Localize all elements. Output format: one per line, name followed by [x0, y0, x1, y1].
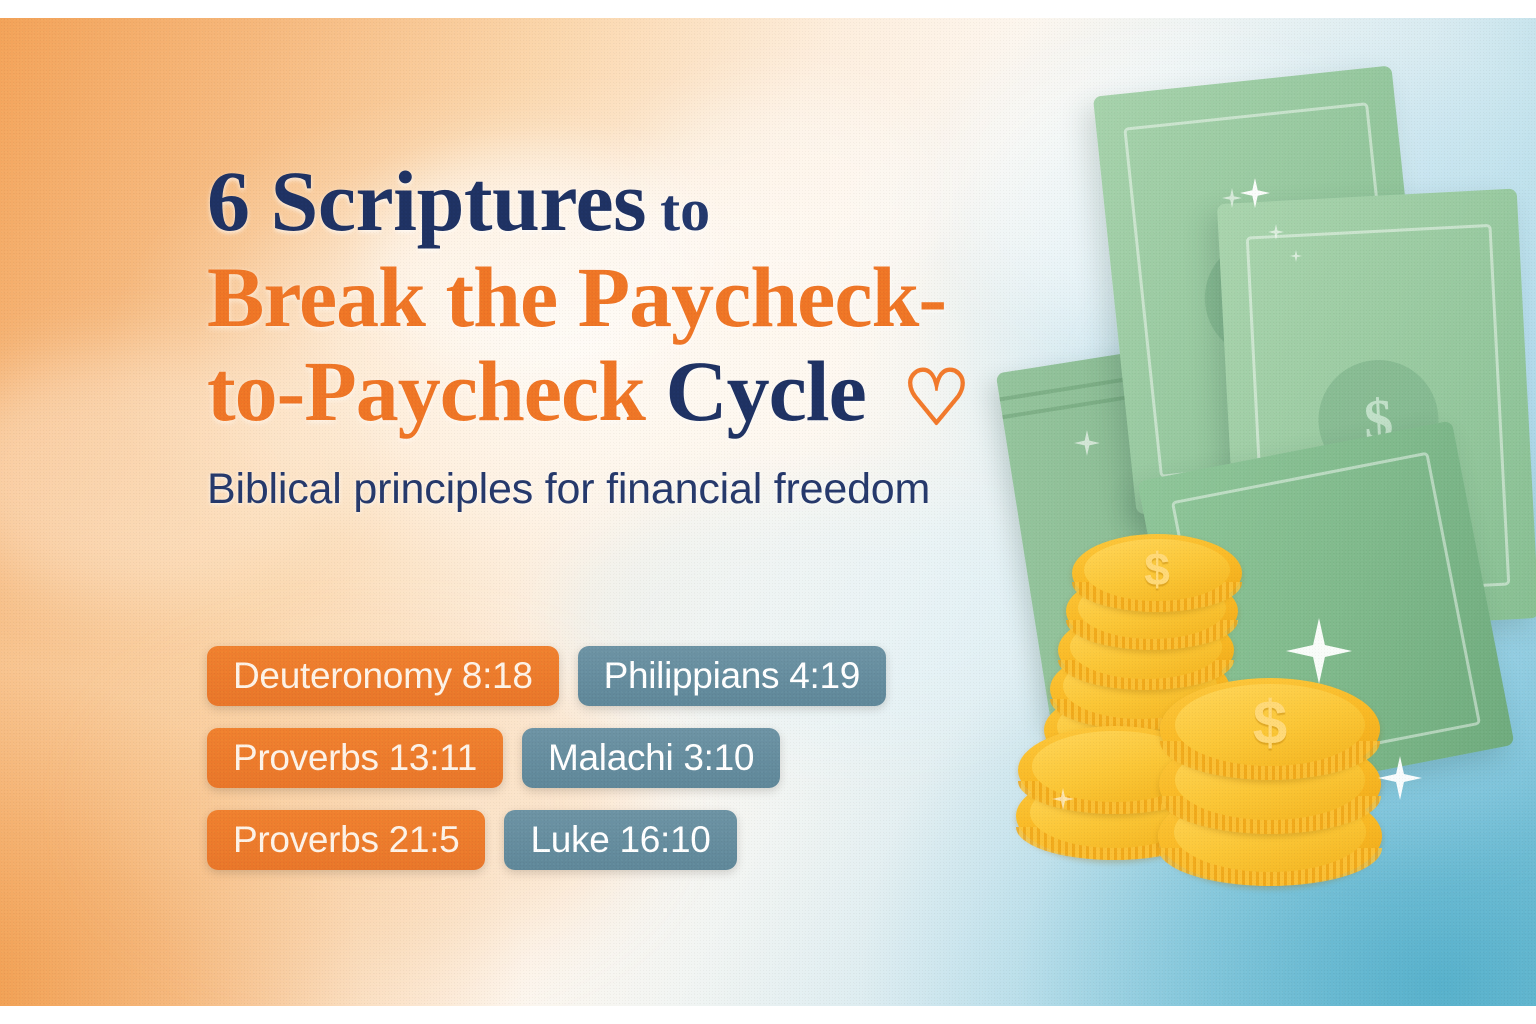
- bottom-white-band: [0, 1006, 1536, 1024]
- paper-grain-highlight: [0, 18, 1536, 1006]
- poster-artboard: $ $: [0, 18, 1536, 1006]
- poster-canvas: $ $: [0, 0, 1536, 1024]
- top-white-band: [0, 0, 1536, 18]
